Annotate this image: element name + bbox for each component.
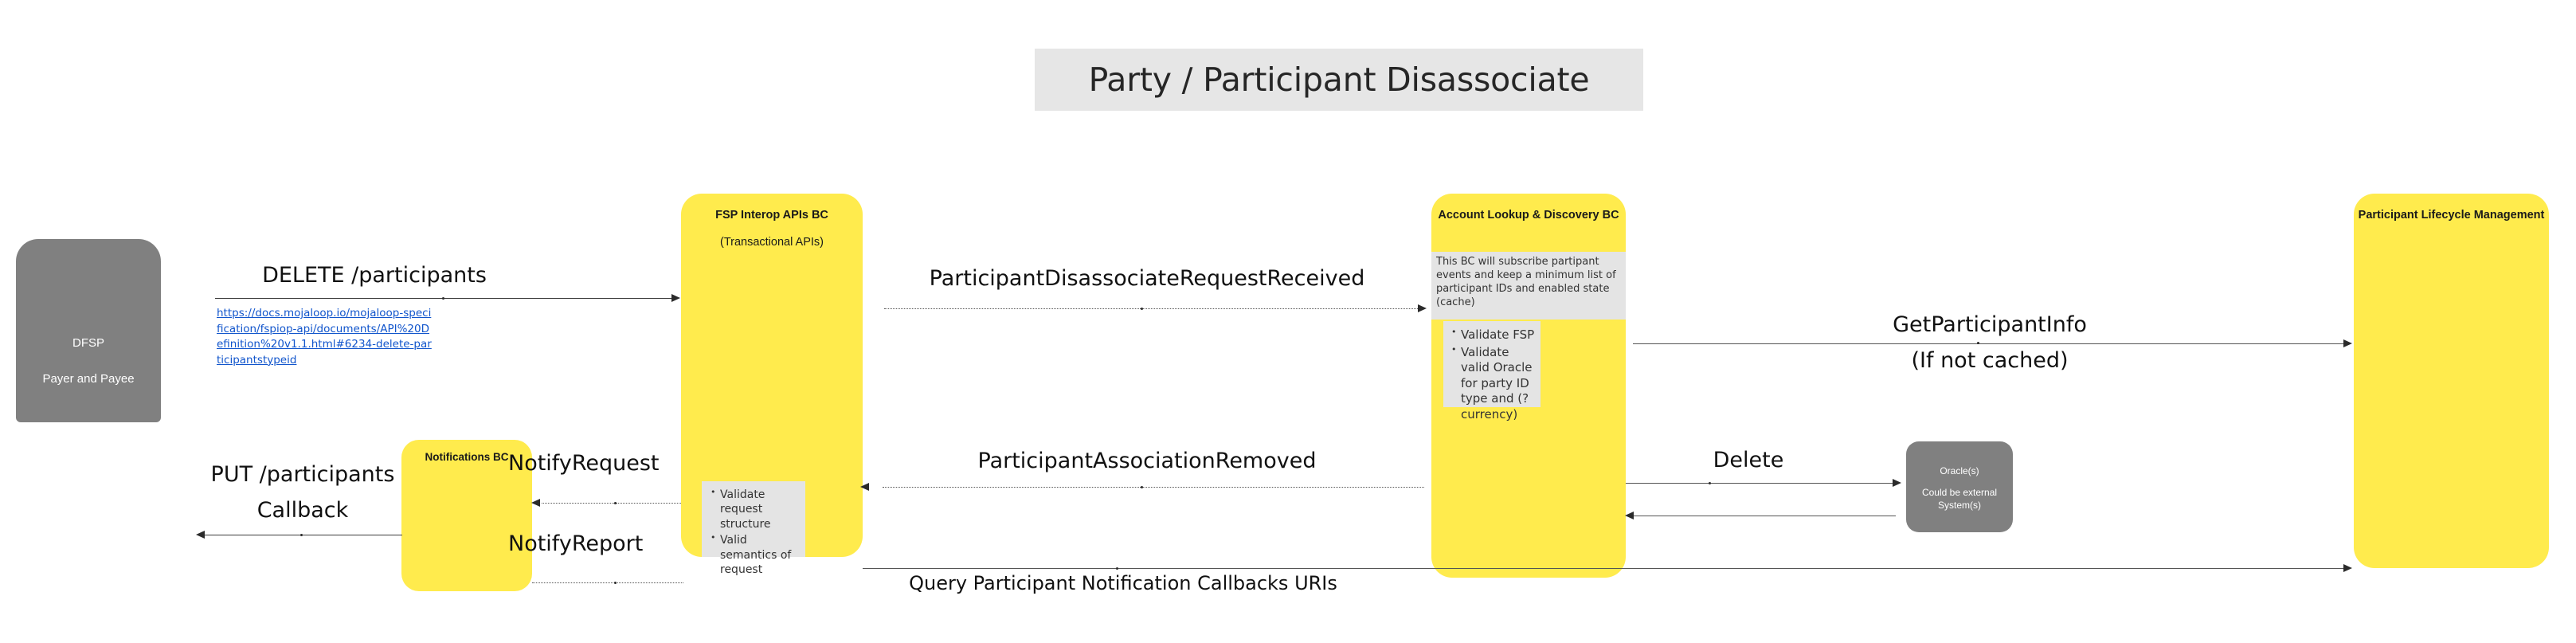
- note-validate-fsp: Validate FSP Validate valid Oracle for p…: [1443, 321, 1541, 407]
- message-notify-request-label: NotifyRequest: [508, 451, 699, 476]
- message-oracle-response-line: [1633, 516, 1896, 516]
- message-notify-report-midpoint: [614, 582, 617, 584]
- message-put-participants-callback-label: Callback: [195, 498, 410, 523]
- message-participant-association-removed-label: ParticipantAssociationRemoved: [863, 449, 1431, 473]
- message-participant-disassociate-request-received-midpoint: [1141, 308, 1143, 310]
- lifeline-dfsp-label: DFSP: [16, 336, 161, 351]
- note-validate-fsp-item: Validate FSP: [1461, 327, 1537, 343]
- message-get-participant-info-condition: (If not cached): [1626, 348, 2354, 373]
- message-put-participants-callback-midpoint: [300, 534, 303, 536]
- message-delete-oracle-label: Delete: [1593, 448, 1904, 472]
- note-validate-fsp-item: Validate valid Oracle for party ID type …: [1461, 345, 1537, 423]
- message-delete-oracle-arrowhead: [1893, 479, 1901, 487]
- lifeline-account-lookup-discovery-bc-label: Account Lookup & Discovery BC: [1431, 208, 1626, 222]
- message-delete-participants-midpoint: [442, 297, 444, 300]
- message-get-participant-info-arrowhead: [2343, 339, 2352, 347]
- message-oracle-response-arrowhead: [1625, 512, 1634, 519]
- message-get-participant-info-label: GetParticipantInfo: [1626, 312, 2354, 337]
- message-notify-request-midpoint: [614, 502, 617, 504]
- lifeline-participant-lifecycle-management-label: Participant Lifecycle Management: [2354, 208, 2549, 222]
- message-delete-oracle-midpoint: [1709, 482, 1711, 484]
- note-validate-request-list: Validate request structure Valid semanti…: [706, 488, 801, 578]
- message-delete-participants-label: DELETE /participants: [215, 263, 534, 288]
- message-delete-participants-arrowhead: [671, 294, 680, 302]
- note-validate-request-item: Validate request structure: [720, 488, 801, 531]
- message-notify-report-label: NotifyReport: [508, 531, 699, 556]
- lifeline-oracles-label: Oracle(s): [1906, 465, 2013, 477]
- diagram-canvas: Party / Participant Disassociate DFSP Pa…: [0, 0, 2576, 643]
- message-delete-oracle-line: [1626, 483, 1893, 484]
- message-put-participants-label: PUT /participants: [195, 462, 410, 487]
- lifeline-fsp-interop-apis-bc-subtitle: (Transactional APIs): [681, 236, 863, 249]
- message-participant-association-removed-midpoint: [1141, 486, 1143, 488]
- message-participant-association-removed-line: [883, 487, 1424, 488]
- message-query-participant-notification-callbacks-label: Query Participant Notification Callbacks…: [876, 572, 1370, 594]
- message-query-participant-notification-callbacks-arrowhead: [2343, 564, 2352, 572]
- lifeline-dfsp[interactable]: DFSP Payer and Payee: [16, 239, 161, 422]
- note-validate-request-item: Valid semantics of request: [720, 533, 801, 577]
- page-title: Party / Participant Disassociate: [1035, 49, 1643, 111]
- lifeline-dfsp-subtitle: Payer and Payee: [16, 372, 161, 386]
- spec-link[interactable]: https://docs.mojaloop.io/mojaloop-specif…: [217, 306, 432, 368]
- note-validate-fsp-list: Validate FSP Validate valid Oracle for p…: [1447, 327, 1537, 422]
- message-notify-request-arrowhead: [531, 499, 540, 507]
- message-participant-disassociate-request-received-arrowhead: [1418, 304, 1427, 312]
- note-cache-subscription: This BC will subscribe partipant events …: [1431, 252, 1626, 320]
- message-query-participant-notification-callbacks-midpoint: [1116, 567, 1118, 570]
- message-put-participants-callback-arrowhead: [196, 531, 205, 539]
- message-participant-disassociate-request-received-line: [884, 308, 1418, 309]
- lifeline-oracles-subtitle: Could be external System(s): [1906, 487, 2013, 512]
- message-participant-association-removed-arrowhead: [860, 483, 869, 491]
- lifeline-oracles[interactable]: Oracle(s) Could be external System(s): [1906, 441, 2013, 532]
- message-participant-disassociate-request-received-label: ParticipantDisassociateRequestReceived: [863, 266, 1431, 291]
- message-put-participants-callback-line: [203, 535, 402, 535]
- page-title-text: Party / Participant Disassociate: [1089, 61, 1590, 99]
- note-validate-request: Validate request structure Valid semanti…: [702, 481, 805, 557]
- message-query-participant-notification-callbacks-line: [863, 568, 2344, 569]
- lifeline-fsp-interop-apis-bc-label: FSP Interop APIs BC: [681, 208, 863, 222]
- lifeline-participant-lifecycle-management[interactable]: Participant Lifecycle Management: [2354, 194, 2549, 568]
- message-get-participant-info-midpoint: [1977, 342, 1979, 344]
- note-cache-text: This BC will subscribe partipant events …: [1436, 256, 1616, 308]
- message-notify-request-line: [542, 503, 681, 504]
- message-get-participant-info-line: [1633, 343, 2344, 344]
- message-notify-report-line: [532, 582, 683, 583]
